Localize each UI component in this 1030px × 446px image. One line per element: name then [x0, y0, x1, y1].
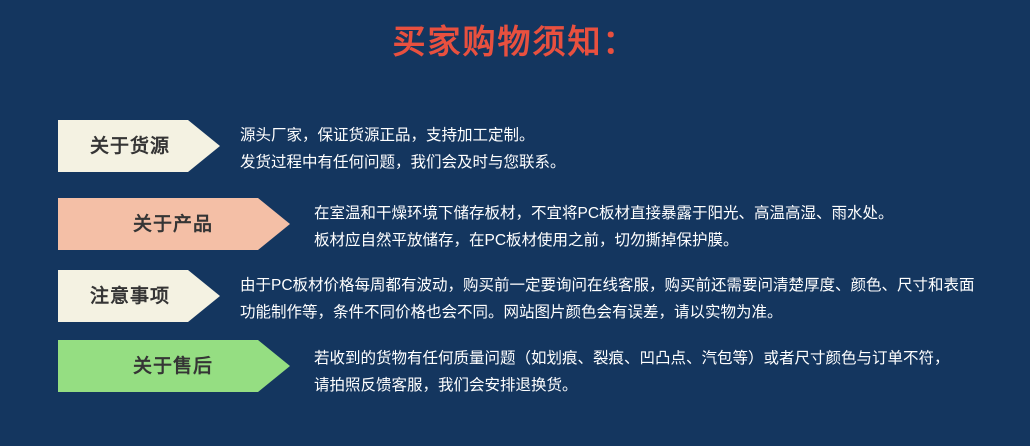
body-line: 功能制作等，条件不同价格也会不同。网站图片颜色会有误差，请以实物为准。 [240, 299, 975, 326]
body-line: 若收到的货物有任何质量问题（如划痕、裂痕、凹凸点、汽包等）或者尺寸颜色与订单不符… [314, 345, 950, 372]
body-line: 发货过程中有任何问题，我们会及时与您联系。 [240, 149, 566, 176]
body-line: 在室温和干燥环境下储存板材，不宜将PC板材直接暴露于阳光、高温高湿、雨水处。 [314, 200, 894, 227]
section-body-3: 由于PC板材价格每周都有波动，购买前一定要询问在线客服，购买前还需要问清楚厚度、… [240, 272, 975, 326]
body-line: 请拍照反馈客服，我们会安排退换货。 [314, 372, 950, 399]
page-title: 买家购物须知： [0, 20, 1030, 64]
section-label-3: 注意事项 [90, 287, 170, 306]
section-label-4: 关于售后 [133, 357, 213, 376]
section-banner-2: 关于产品 [58, 198, 290, 250]
section-body-1: 源头厂家，保证货源正品，支持加工定制。 发货过程中有任何问题，我们会及时与您联系… [240, 122, 566, 176]
section-body-2: 在室温和干燥环境下储存板材，不宜将PC板材直接暴露于阳光、高温高湿、雨水处。 板… [314, 200, 894, 254]
body-line: 板材应自然平放储存，在PC板材使用之前，切勿撕掉保护膜。 [314, 227, 894, 254]
section-banner-4: 关于售后 [58, 340, 290, 392]
section-label-2: 关于产品 [133, 215, 213, 234]
section-banner-3: 注意事项 [58, 270, 220, 322]
body-line: 由于PC板材价格每周都有波动，购买前一定要询问在线客服，购买前还需要问清楚厚度、… [240, 272, 975, 299]
section-label-1: 关于货源 [90, 137, 170, 156]
section-banner-1: 关于货源 [58, 120, 220, 172]
buyer-notice-panel: 买家购物须知： 关于货源 源头厂家，保证货源正品，支持加工定制。 发货过程中有任… [0, 0, 1030, 446]
section-body-4: 若收到的货物有任何质量问题（如划痕、裂痕、凹凸点、汽包等）或者尺寸颜色与订单不符… [314, 345, 950, 399]
body-line: 源头厂家，保证货源正品，支持加工定制。 [240, 122, 566, 149]
